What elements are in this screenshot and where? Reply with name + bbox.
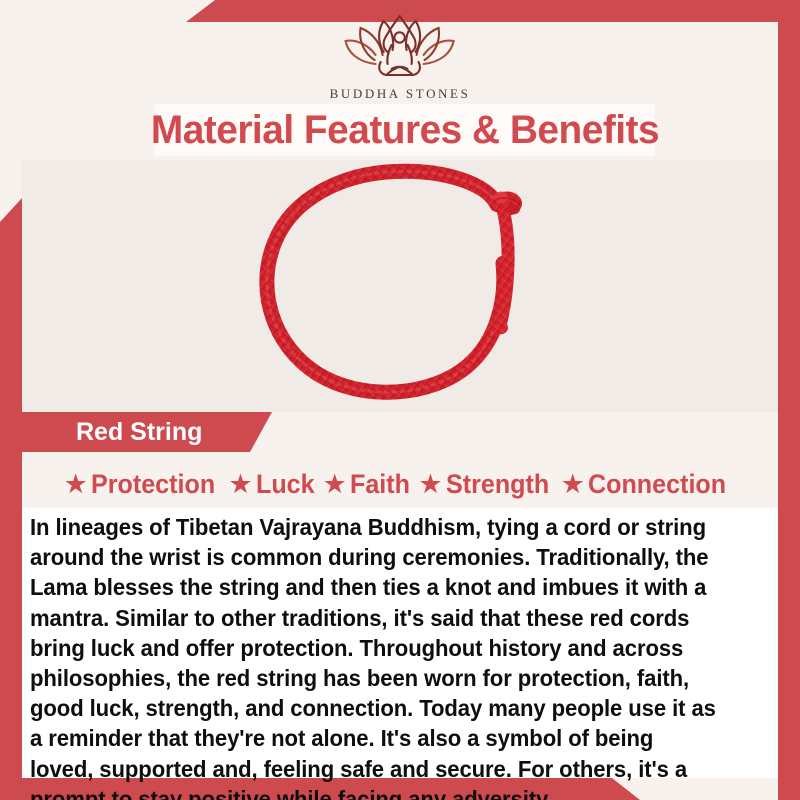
benefit-label: Protection (91, 469, 215, 500)
product-name-banner: Red String (22, 412, 272, 452)
benefit-label: Luck (256, 469, 315, 500)
frame-right-bar (778, 0, 800, 800)
benefits-list: ★ Protection ★ Luck ★ Faith ★ Strength ★… (22, 460, 778, 508)
lotus-meditation-figure-icon (330, 12, 471, 85)
title-band: Material Features & Benefits (155, 104, 655, 156)
star-icon: ★ (418, 471, 442, 498)
benefit-label: Connection (588, 469, 726, 500)
page-title: Material Features & Benefits (151, 108, 659, 153)
description-text: In lineages of Tibetan Vajrayana Buddhis… (30, 512, 716, 800)
brand-name: BUDDHA STONES (330, 86, 471, 102)
benefit-item-luck: ★ Luck (228, 469, 318, 500)
benefit-label: Faith (350, 469, 410, 500)
product-name-label: Red String (76, 418, 202, 447)
benefit-item-protection: ★ Protection (64, 469, 225, 500)
star-icon: ★ (323, 471, 347, 498)
brand-header: BUDDHA STONES (0, 0, 800, 100)
benefit-label: Strength (446, 469, 549, 500)
star-icon: ★ (64, 471, 88, 498)
benefit-item-faith: ★ Faith (323, 469, 415, 500)
star-icon: ★ (228, 471, 252, 498)
benefit-item-strength: ★ Strength (418, 469, 556, 500)
red-string-bracelet-image (235, 160, 565, 412)
frame-left-bar (0, 0, 22, 800)
star-icon: ★ (561, 471, 585, 498)
product-infographic: BUDDHA STONES Material Features & Benefi… (0, 0, 800, 800)
benefit-item-connection: ★ Connection (561, 469, 737, 500)
brand-logo: BUDDHA STONES (330, 12, 471, 102)
description-panel: In lineages of Tibetan Vajrayana Buddhis… (22, 508, 778, 778)
product-image-area (22, 160, 778, 412)
